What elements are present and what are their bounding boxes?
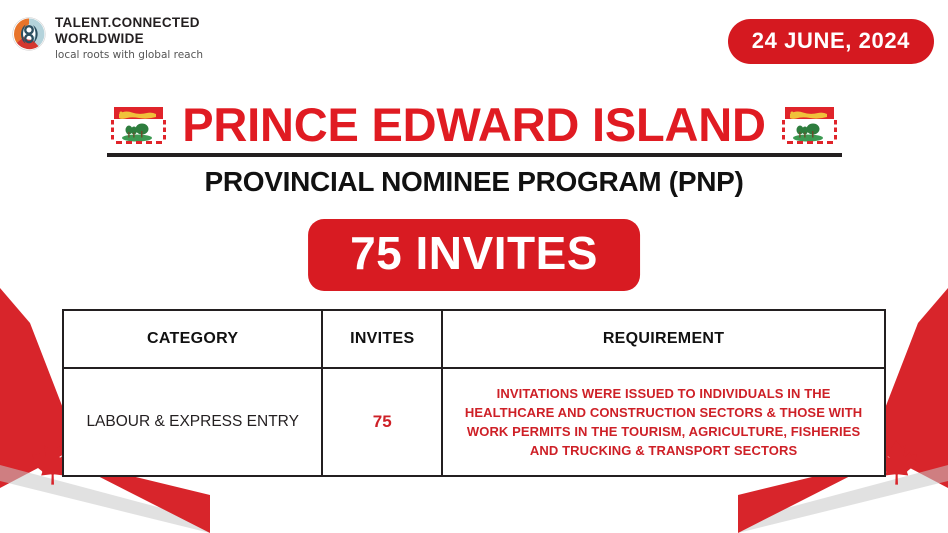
- brand-name-line2: WORLDWIDE: [55, 32, 203, 46]
- column-header-invites: INVITES: [322, 310, 442, 368]
- brand-name-line1: TALENT.CONNECTED: [55, 16, 203, 30]
- cell-category: LABOUR & EXPRESS ENTRY: [63, 368, 322, 476]
- page-subtitle: PROVINCIAL NOMINEE PROGRAM (PNP): [0, 166, 948, 198]
- page-header: TALENT.CONNECTED WORLDWIDE local roots w…: [0, 0, 948, 86]
- cell-invites: 75: [322, 368, 442, 476]
- column-header-category: CATEGORY: [63, 310, 322, 368]
- prince-edward-island-flag: [782, 105, 837, 145]
- cell-requirement: INVITATIONS WERE ISSUED TO INDIVIDUALS I…: [442, 368, 885, 476]
- invitations-table: CATEGORY INVITES REQUIREMENT LABOUR & EX…: [62, 309, 886, 477]
- page-title: PRINCE EDWARD ISLAND: [182, 100, 766, 150]
- talent-connected-globe-logo: [12, 17, 46, 51]
- date-badge: 24 JUNE, 2024: [728, 19, 934, 64]
- prince-edward-island-flag: [111, 105, 166, 145]
- table-header-row: CATEGORY INVITES REQUIREMENT: [63, 310, 885, 368]
- invites-badge: 75 INVITES: [308, 219, 640, 291]
- brand-logo: TALENT.CONNECTED WORLDWIDE local roots w…: [12, 15, 203, 61]
- column-header-requirement: REQUIREMENT: [442, 310, 885, 368]
- title-row: PRINCE EDWARD ISLAND: [0, 100, 948, 150]
- title-block: PRINCE EDWARD ISLAND: [0, 100, 948, 198]
- brand-tagline: local roots with global reach: [55, 49, 203, 61]
- table-row: LABOUR & EXPRESS ENTRY 75 INVITATIONS WE…: [63, 368, 885, 476]
- title-divider: [107, 153, 842, 157]
